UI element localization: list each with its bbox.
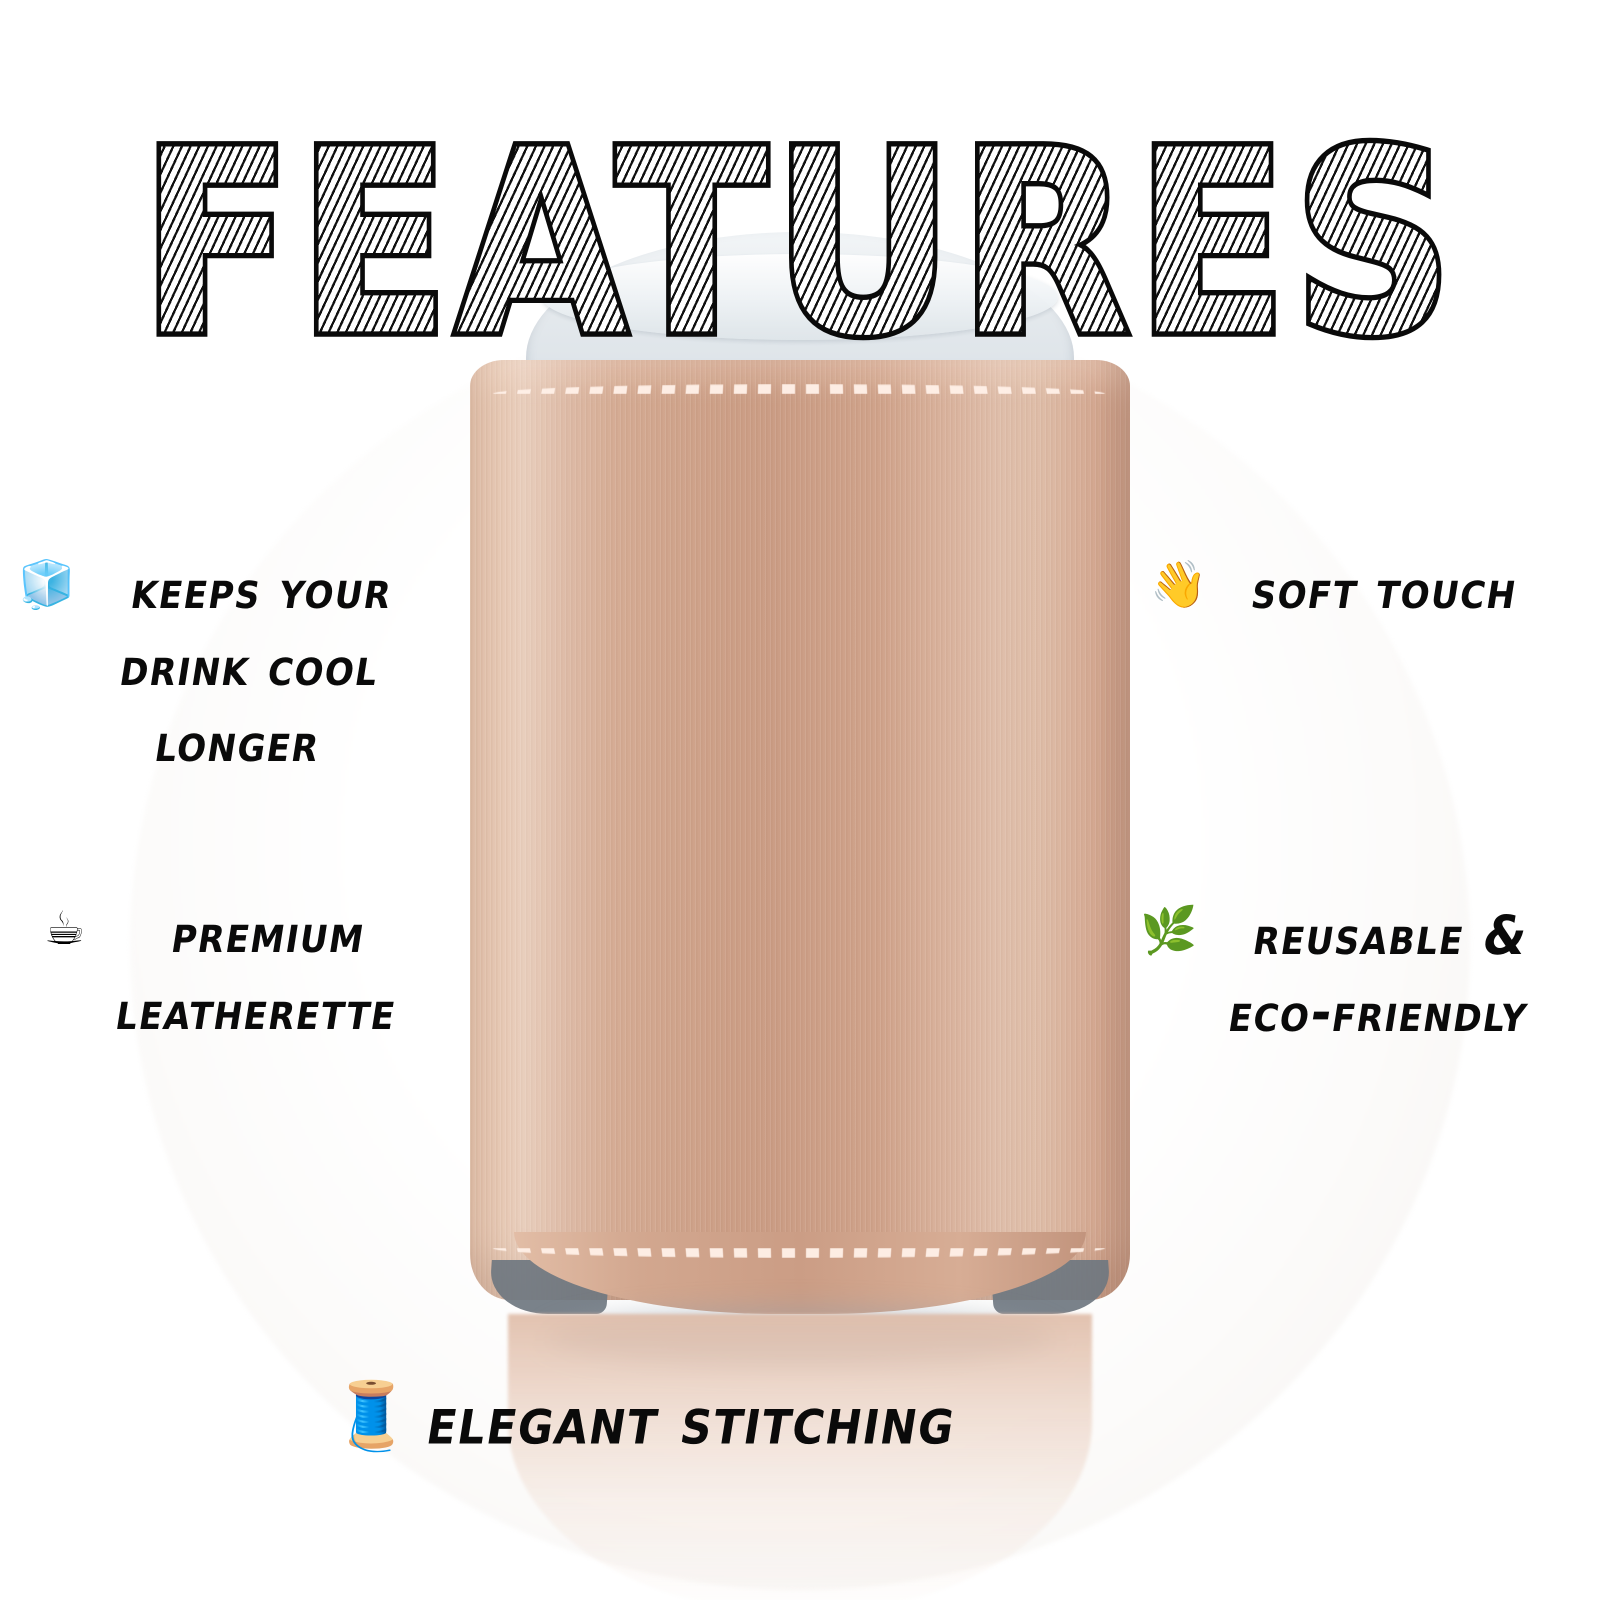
feature-elegant-stitching: 🧵 Elegant Stitching [330, 1372, 1290, 1460]
product-image [450, 232, 1150, 1362]
page-title-text: FEATURES [141, 95, 1459, 391]
feature-reusable-eco-label: Reusable & Eco-Friendly [1187, 898, 1583, 1051]
feature-infographic: FEATURES FEATURES 🧊 Keeps Your Drink Coo… [0, 0, 1600, 1600]
feature-soft-touch-label: Soft Touch [1209, 552, 1561, 629]
coffee-cup-icon: ☕ [44, 902, 85, 955]
feature-reusable-eco: 🌿 Reusable & Eco-Friendly [1140, 898, 1600, 1037]
feature-premium-leatherette-label: Premium Leatherette [75, 896, 451, 1049]
page-title: FEATURES FEATURES [0, 118, 1600, 368]
feature-keeps-cool: 🧊 Keeps Your Drink Cool longer [18, 552, 448, 761]
ice-cube-icon: 🧊 [18, 558, 75, 611]
feature-elegant-stitching-label: Elegant Stitching [421, 1372, 964, 1469]
herb-leaf-icon: 🌿 [1140, 904, 1197, 957]
leatherette-sleeve [470, 360, 1130, 1300]
feature-soft-touch: 👋 Soft Touch [1150, 552, 1590, 622]
feature-keeps-cool-label: Keeps Your Drink Cool longer [53, 552, 448, 782]
feature-premium-leatherette: ☕ Premium Leatherette [44, 896, 464, 1035]
waving-hand-icon: 👋 [1150, 558, 1207, 611]
thread-spool-icon: 🧵 [330, 1378, 412, 1454]
